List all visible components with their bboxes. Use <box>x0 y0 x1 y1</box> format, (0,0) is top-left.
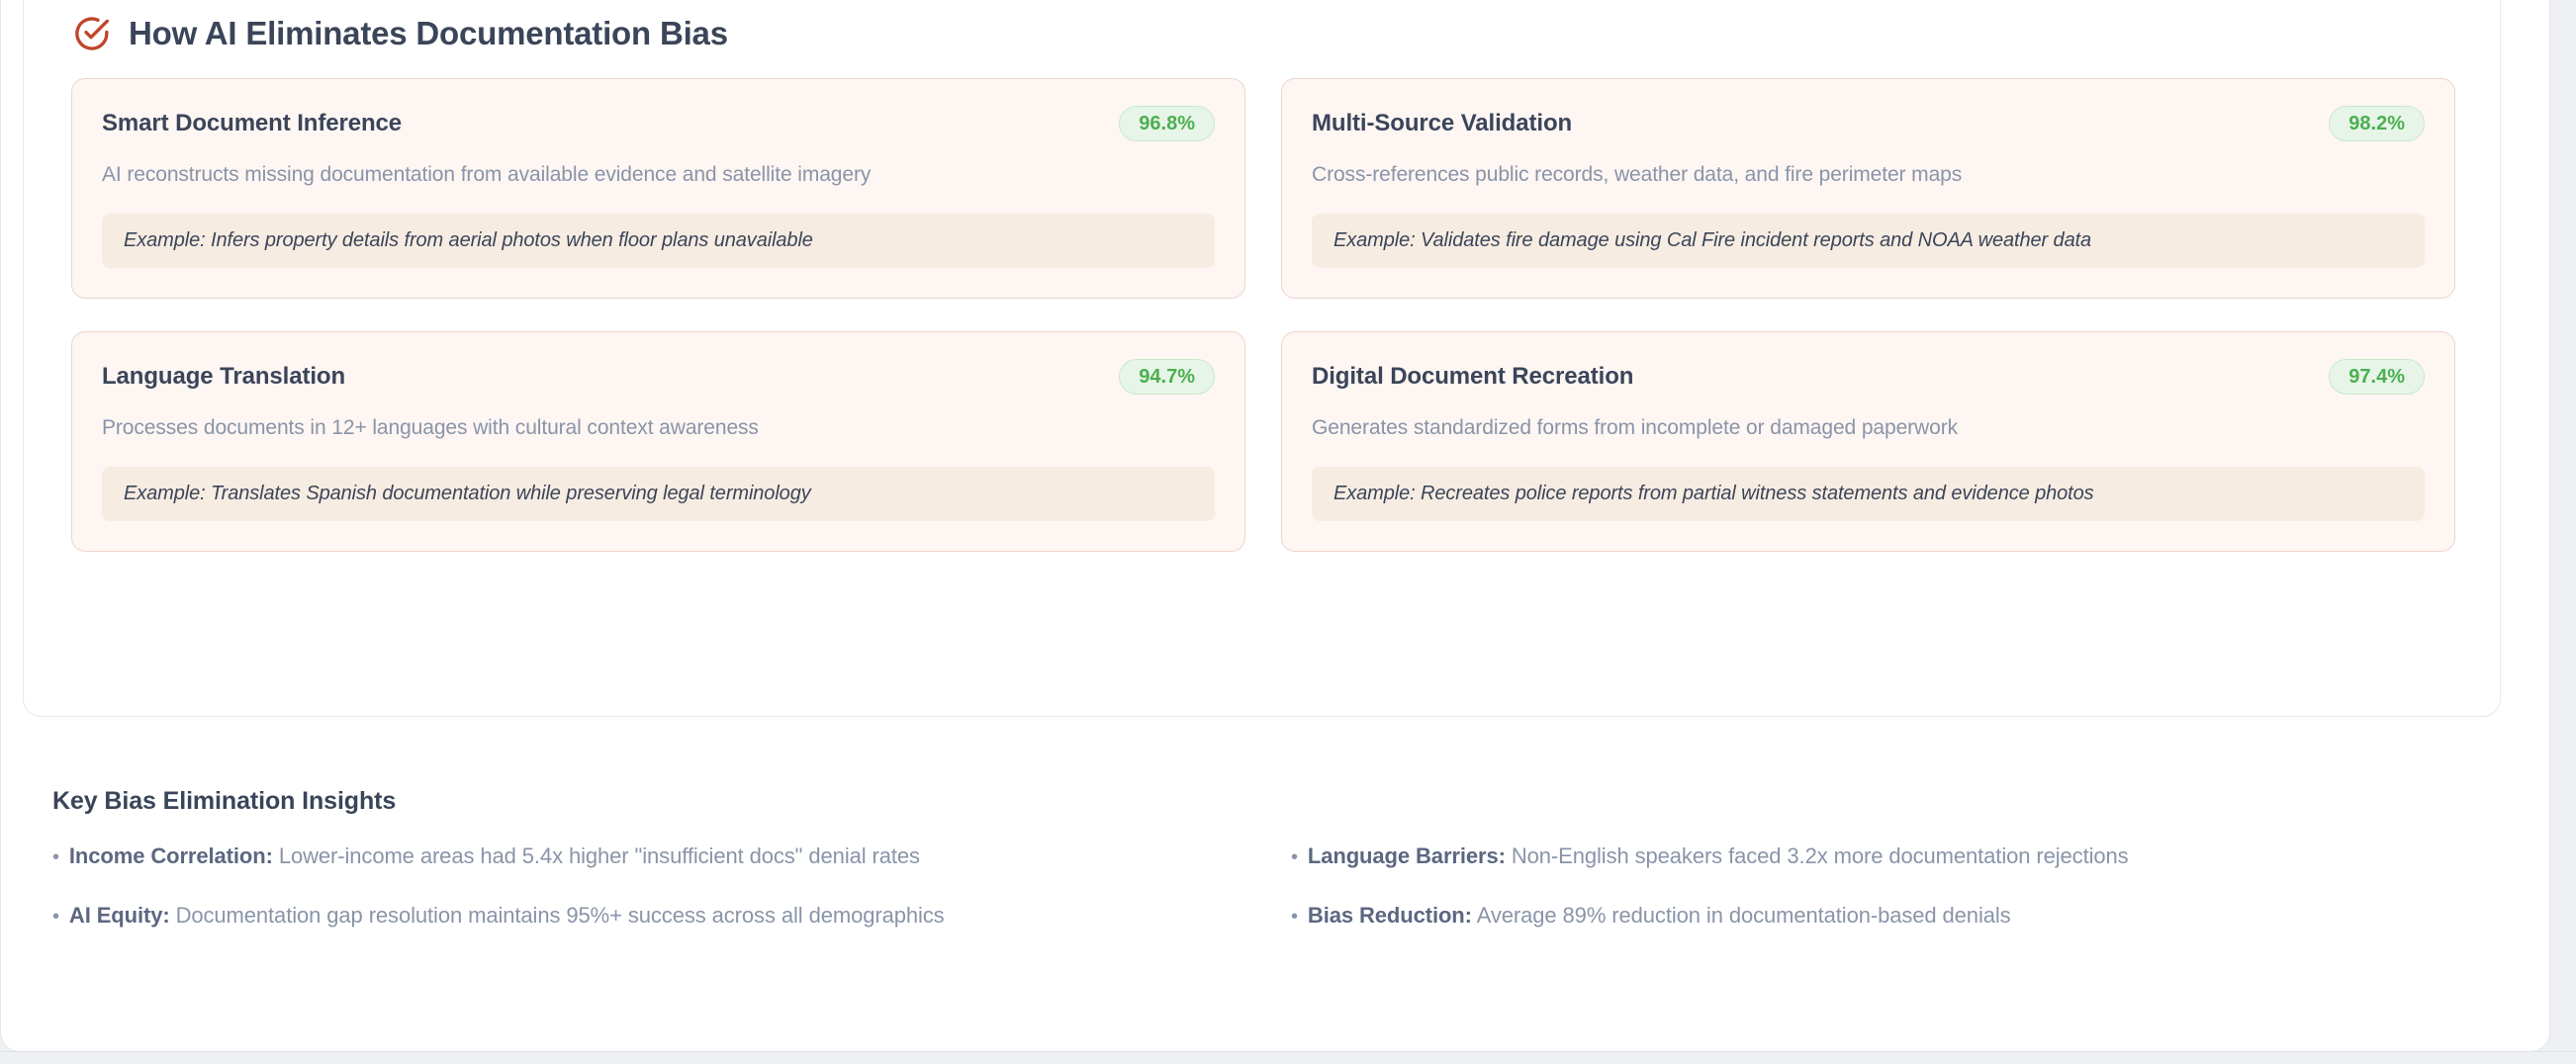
insight-text: Average 89% reduction in documentation-b… <box>1477 903 2011 928</box>
card-example: Example: Validates fire damage using Cal… <box>1312 214 2425 268</box>
insights-section: Key Bias Elimination Insights • Income C… <box>52 787 2506 929</box>
card-description: Generates standardized forms from incomp… <box>1312 416 2425 440</box>
panel-header: How AI Eliminates Documentation Bias <box>71 14 728 53</box>
insight-label: AI Equity: <box>69 903 170 928</box>
insight-label: Income Correlation: <box>69 843 273 868</box>
card-example: Example: Translates Spanish documentatio… <box>102 467 1215 521</box>
bullet-icon: • <box>1291 847 1298 867</box>
footer-strip <box>0 1052 2576 1064</box>
card-header: Smart Document Inference 96.8% <box>102 106 1215 141</box>
card-header: Language Translation 94.7% <box>102 359 1215 395</box>
insight-item: • AI Equity: Documentation gap resolutio… <box>52 903 1267 929</box>
feature-card[interactable]: Digital Document Recreation 97.4% Genera… <box>1281 331 2455 552</box>
card-title: Smart Document Inference <box>102 110 402 137</box>
insights-grid: • Income Correlation: Lower-income areas… <box>52 843 2506 929</box>
feature-card[interactable]: Multi-Source Validation 98.2% Cross-refe… <box>1281 78 2455 299</box>
insight-label: Language Barriers: <box>1308 843 1506 868</box>
accuracy-badge: 97.4% <box>2329 359 2425 395</box>
insight-text: Lower-income areas had 5.4x higher "insu… <box>279 843 920 868</box>
card-example: Example: Infers property details from ae… <box>102 214 1215 268</box>
page-container: How AI Eliminates Documentation Bias Sma… <box>0 0 2550 1052</box>
card-description: Processes documents in 12+ languages wit… <box>102 416 1215 440</box>
accuracy-badge: 94.7% <box>1119 359 1215 395</box>
feature-card[interactable]: Language Translation 94.7% Processes doc… <box>71 331 1245 552</box>
insights-title: Key Bias Elimination Insights <box>52 787 2506 816</box>
check-circle-icon <box>71 14 111 53</box>
card-description: Cross-references public records, weather… <box>1312 163 2425 187</box>
insight-label: Bias Reduction: <box>1308 903 1472 928</box>
bullet-icon: • <box>52 847 59 867</box>
card-description: AI reconstructs missing documentation fr… <box>102 163 1215 187</box>
ai-bias-panel: How AI Eliminates Documentation Bias Sma… <box>23 0 2501 717</box>
insight-item: • Language Barriers: Non-English speaker… <box>1291 843 2506 869</box>
card-example: Example: Recreates police reports from p… <box>1312 467 2425 521</box>
accuracy-badge: 96.8% <box>1119 106 1215 141</box>
bullet-icon: • <box>52 907 59 927</box>
feature-card-grid: Smart Document Inference 96.8% AI recons… <box>71 78 2455 552</box>
insight-text: Documentation gap resolution maintains 9… <box>176 903 945 928</box>
insight-item: • Bias Reduction: Average 89% reduction … <box>1291 903 2506 929</box>
insight-text: Non-English speakers faced 3.2x more doc… <box>1512 843 2129 868</box>
card-title: Language Translation <box>102 363 345 391</box>
card-header: Multi-Source Validation 98.2% <box>1312 106 2425 141</box>
page-title: How AI Eliminates Documentation Bias <box>129 15 728 52</box>
accuracy-badge: 98.2% <box>2329 106 2425 141</box>
card-title: Multi-Source Validation <box>1312 110 1572 137</box>
card-header: Digital Document Recreation 97.4% <box>1312 359 2425 395</box>
bullet-icon: • <box>1291 907 1298 927</box>
card-title: Digital Document Recreation <box>1312 363 1633 391</box>
insight-item: • Income Correlation: Lower-income areas… <box>52 843 1267 869</box>
feature-card[interactable]: Smart Document Inference 96.8% AI recons… <box>71 78 1245 299</box>
